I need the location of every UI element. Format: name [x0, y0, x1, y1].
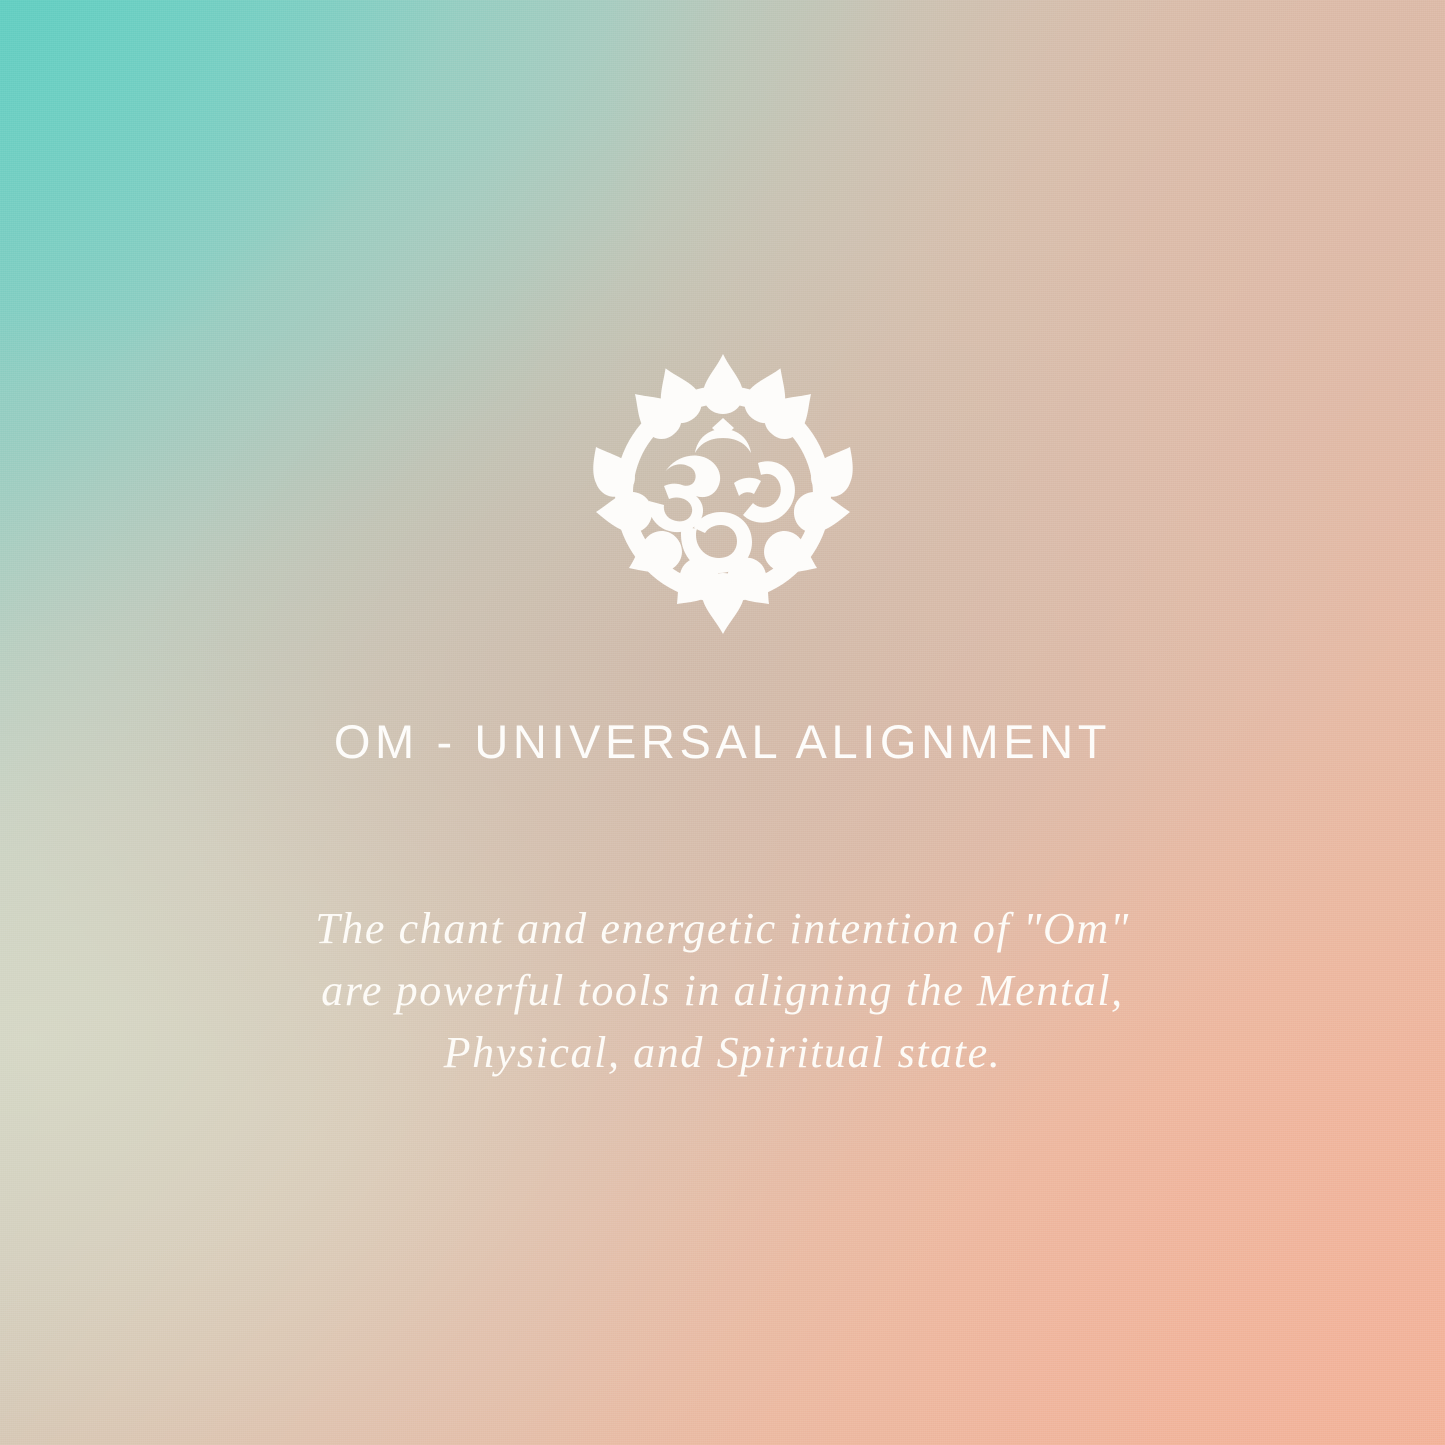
poster-canvas: OM - UNIVERSAL ALIGNMENT The chant and e… — [0, 0, 1445, 1445]
page-title: OM - UNIVERSAL ALIGNMENT — [0, 713, 1445, 771]
description-line: Physical, and Spiritual state. — [213, 1022, 1233, 1084]
description-text: The chant and energetic intention of "Om… — [213, 898, 1233, 1084]
description-line: The chant and energetic intention of "Om… — [213, 898, 1233, 960]
poster-content: OM - UNIVERSAL ALIGNMENT The chant and e… — [0, 0, 1445, 1445]
om-lotus-icon — [582, 352, 864, 636]
description-line: are powerful tools in aligning the Menta… — [213, 960, 1233, 1022]
